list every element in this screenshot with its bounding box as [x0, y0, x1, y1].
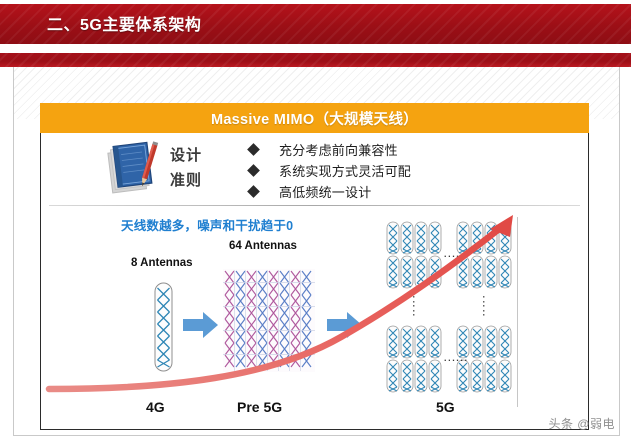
slide-canvas: Massive MIMO（大规模天线）	[13, 67, 620, 436]
page-title: 二、5G主要体系架构	[47, 11, 201, 35]
list-item: 高低频统一设计	[249, 181, 411, 201]
notebook-pencil-icon	[104, 141, 166, 197]
stage-label-4g: 4G	[146, 399, 165, 415]
slide-screenshot: 二、5G主要体系架构 Massive MIMO（大规模天线）	[0, 0, 631, 438]
stage-label-5g: 5G	[436, 399, 455, 415]
diamond-bullet-icon	[247, 143, 260, 156]
design-principles-label: 设计 准则	[162, 143, 210, 193]
section-divider	[49, 205, 580, 206]
massive-mimo-diagram: 天线数越多，噪声和干扰趋于0 8 Antennas 64 Antennas	[41, 207, 588, 428]
bullet-text: 高低频统一设计	[279, 182, 371, 201]
design-label-line-2: 准则	[162, 168, 210, 193]
secondary-bar-stripe-pattern	[0, 53, 631, 67]
card-title-text: Massive MIMO（大规模天线）	[211, 108, 418, 129]
section-title-banner: 二、5G主要体系架构	[0, 4, 631, 44]
list-item: 系统实现方式灵活可配	[249, 160, 411, 180]
diamond-bullet-icon	[247, 164, 260, 177]
card-title-bar: Massive MIMO（大规模天线）	[40, 103, 589, 133]
stage-label-pre5g: Pre 5G	[237, 399, 282, 415]
secondary-red-bar	[0, 53, 631, 67]
list-item: 充分考虑前向兼容性	[249, 139, 411, 159]
diamond-bullet-icon	[247, 185, 260, 198]
bullet-text: 充分考虑前向兼容性	[279, 140, 398, 159]
design-principles-row: 设计 准则 充分考虑前向兼容性 系统实现方式灵活可配 高低频统一设计	[41, 133, 588, 206]
bullet-text: 系统实现方式灵活可配	[279, 161, 411, 180]
watermark: 头条 @弱电	[548, 415, 615, 432]
growth-trend-arrow-icon	[41, 207, 588, 428]
design-principles-list: 充分考虑前向兼容性 系统实现方式灵活可配 高低频统一设计	[249, 139, 411, 202]
design-label-line-1: 设计	[162, 143, 210, 168]
card-body: 设计 准则 充分考虑前向兼容性 系统实现方式灵活可配 高低频统一设计	[40, 133, 589, 430]
